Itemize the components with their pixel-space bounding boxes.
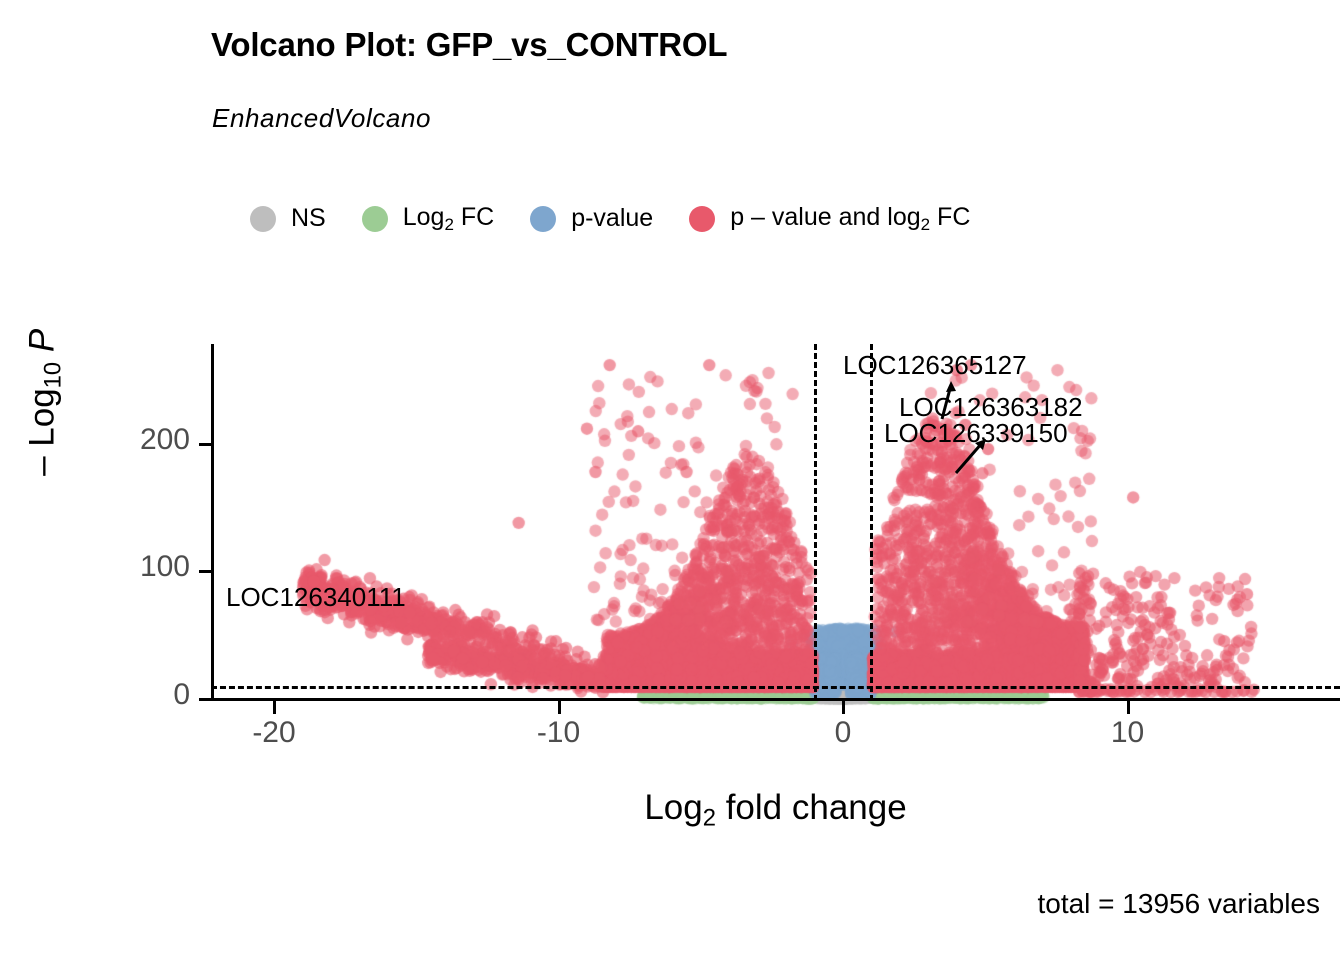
annotation-connectors <box>0 0 1344 960</box>
gene-label-loc126340111: LOC126340111 <box>226 582 406 613</box>
volcano-plot-figure: Volcano Plot: GFP_vs_CONTROL EnhancedVol… <box>0 0 1344 960</box>
plot-caption: total = 13956 variables <box>1037 888 1320 920</box>
gene-label-loc126339150: LOC126339150 <box>884 418 1068 449</box>
gene-label-loc126365127: LOC126365127 <box>843 350 1027 381</box>
